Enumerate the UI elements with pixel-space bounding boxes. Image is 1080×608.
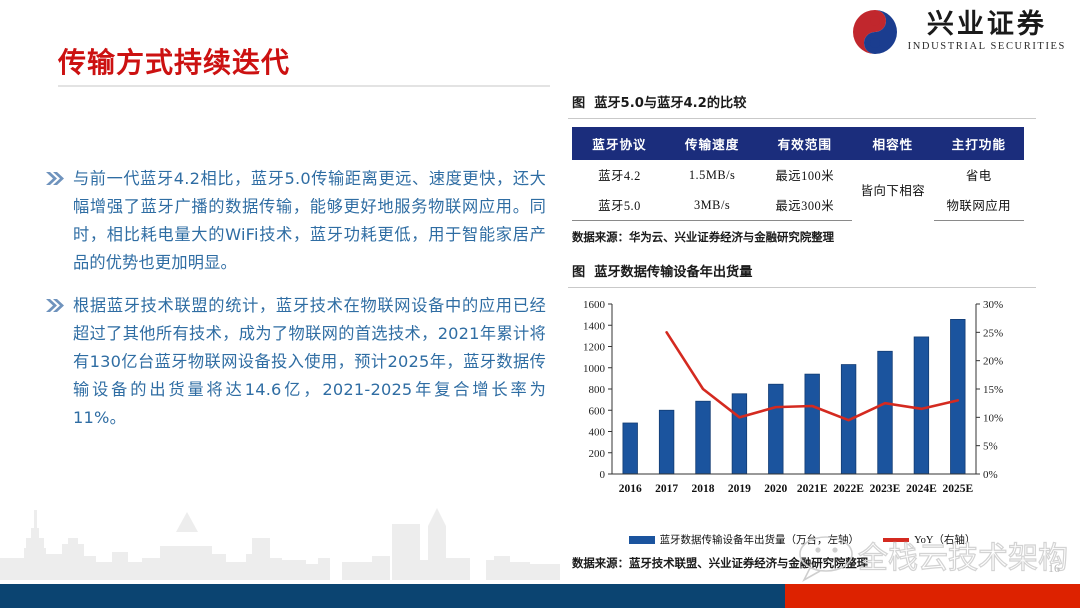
page-title: 传输方式持续迭代 <box>58 48 558 79</box>
svg-text:1400: 1400 <box>583 320 606 332</box>
chart-bar <box>914 337 929 474</box>
legend-label-bar: 蓝牙数据传输设备年出货量（万台，左轴） <box>660 532 860 547</box>
chart-bar <box>623 423 638 474</box>
list-item-text: 根据蓝牙技术联盟的统计，蓝牙技术在物联网设备中的应用已经超过了其他所有技术，成为… <box>73 292 546 431</box>
chart-bar <box>659 410 674 474</box>
chart-x-label: 2019 <box>728 483 751 495</box>
chart-x-label: 2017 <box>655 483 678 495</box>
logo-company-name-cn: 兴业证券 <box>927 11 1047 38</box>
table-header-protocol: 蓝牙协议 <box>572 127 667 160</box>
table-row: 蓝牙5.0 3MB/s 最远300米 物联网应用 <box>572 190 1024 221</box>
svg-text:1600: 1600 <box>583 299 606 311</box>
list-item: 根据蓝牙技术联盟的统计，蓝牙技术在物联网设备中的应用已经超过了其他所有技术，成为… <box>46 292 546 431</box>
svg-text:0: 0 <box>600 469 606 481</box>
double-chevron-right-icon <box>46 299 64 431</box>
chart-y-axis-left-ticks: 02004006008001000120014001600 <box>583 299 612 481</box>
chart-x-label: 2020 <box>764 483 787 495</box>
table-header-feature: 主打功能 <box>934 127 1024 160</box>
svg-text:1000: 1000 <box>583 363 606 375</box>
chart-figure-title: 图蓝牙数据传输设备年出货量 <box>568 261 1036 280</box>
legend-item-bar: 蓝牙数据传输设备年出货量（万台，左轴） <box>629 532 860 547</box>
table-figure-block: 图蓝牙5.0与蓝牙4.2的比较 蓝牙协议 传输速度 有效范围 相容性 主打功能 … <box>568 92 1036 245</box>
svg-text:0%: 0% <box>983 469 998 481</box>
double-chevron-right-icon <box>46 172 64 276</box>
svg-text:20%: 20% <box>983 356 1003 368</box>
table-row: 蓝牙4.2 1.5MB/s 最远100米 皆向下相容 省电 <box>572 160 1024 190</box>
table-header-row: 蓝牙协议 传输速度 有效范围 相容性 主打功能 <box>572 127 1024 160</box>
chart-y-axis-right-ticks: 0%5%10%15%20%25%30% <box>976 299 1003 481</box>
chart-figure-block: 图蓝牙数据传输设备年出货量 02004006008001000120014001… <box>568 261 1036 571</box>
svg-text:200: 200 <box>589 448 606 460</box>
figure-label: 图 <box>572 265 585 280</box>
legend-label-line: YoY（右轴） <box>914 532 975 547</box>
cell-range: 最远100米 <box>757 160 852 190</box>
svg-text:800: 800 <box>589 384 606 396</box>
right-content-column: 图蓝牙5.0与蓝牙4.2的比较 蓝牙协议 传输速度 有效范围 相容性 主打功能 … <box>568 92 1036 571</box>
figure-label: 图 <box>572 96 585 111</box>
figure-title-divider <box>568 118 1036 119</box>
bluetooth-comparison-table: 蓝牙协议 传输速度 有效范围 相容性 主打功能 蓝牙4.2 1.5MB/s 最远… <box>572 127 1024 221</box>
page-title-block: 传输方式持续迭代 <box>58 48 558 87</box>
svg-text:10%: 10% <box>983 412 1003 424</box>
legend-swatch-bar-icon <box>629 536 655 544</box>
logo-swirl-icon <box>851 8 899 56</box>
chart-bar <box>805 374 820 474</box>
cell-compatibility-merged: 皆向下相容 <box>852 160 933 221</box>
chart-bar <box>769 384 784 474</box>
svg-text:30%: 30% <box>983 299 1003 311</box>
chart-x-label: 2018 <box>692 483 715 495</box>
list-item-text: 与前一代蓝牙4.2相比，蓝牙5.0传输距离更远、速度更快，还大幅增强了蓝牙广播的… <box>73 165 546 276</box>
cell-protocol: 蓝牙5.0 <box>572 190 667 221</box>
svg-text:1200: 1200 <box>583 342 606 354</box>
chart-x-label: 2021E <box>797 483 828 495</box>
figure-title-divider <box>568 287 1036 288</box>
cell-feature: 物联网应用 <box>934 190 1024 221</box>
svg-text:15%: 15% <box>983 384 1003 396</box>
chart-x-label: 2022E <box>833 483 864 495</box>
figure-title-text: 蓝牙5.0与蓝牙4.2的比较 <box>594 96 746 111</box>
legend-item-line: YoY（右轴） <box>883 532 975 547</box>
svg-text:25%: 25% <box>983 327 1003 339</box>
logo-company-name-en: INDUSTRIAL SECURITIES <box>908 42 1066 53</box>
legend-swatch-line-icon <box>883 538 909 542</box>
cell-range: 最远300米 <box>757 190 852 221</box>
svg-text:600: 600 <box>589 405 606 417</box>
cell-speed: 3MB/s <box>667 190 757 221</box>
list-item: 与前一代蓝牙4.2相比，蓝牙5.0传输距离更远、速度更快，还大幅增强了蓝牙广播的… <box>46 165 546 276</box>
chart-bar <box>696 401 711 474</box>
table-figure-title: 图蓝牙5.0与蓝牙4.2的比较 <box>568 92 1036 111</box>
title-divider <box>58 85 550 87</box>
chart-legend: 蓝牙数据传输设备年出货量（万台，左轴） YoY（右轴） <box>568 532 1036 547</box>
table-header-range: 有效范围 <box>757 127 852 160</box>
figure-title-text: 蓝牙数据传输设备年出货量 <box>594 265 752 280</box>
chart-x-label: 2024E <box>906 483 937 495</box>
chart-bar <box>732 394 747 474</box>
svg-text:400: 400 <box>589 427 606 439</box>
chart-x-label: 2025E <box>942 483 973 495</box>
chart-source-note: 数据来源：蓝牙技术联盟、兴业证券经济与金融研究院整理 <box>568 555 1036 571</box>
chart-x-label: 2016 <box>619 483 642 495</box>
cell-protocol: 蓝牙4.2 <box>572 160 667 190</box>
footer-bar <box>0 584 1080 608</box>
table-source-note: 数据来源：华为云、兴业证券经济与金融研究院整理 <box>568 229 1036 245</box>
chart-bar <box>878 351 893 474</box>
footer-bar-blue-segment <box>0 584 785 608</box>
page-number: 16 <box>1048 561 1060 576</box>
chart-x-label: 2023E <box>870 483 901 495</box>
cell-feature: 省电 <box>934 160 1024 190</box>
shipment-chart: 02004006008001000120014001600 0%5%10%15%… <box>572 298 1024 530</box>
bullet-list: 与前一代蓝牙4.2相比，蓝牙5.0传输距离更远、速度更快，还大幅增强了蓝牙广播的… <box>46 165 546 448</box>
footer-bar-red-segment <box>785 584 1080 608</box>
table-header-speed: 传输速度 <box>667 127 757 160</box>
skyline-decoration <box>0 500 560 580</box>
chart-bar <box>951 319 966 474</box>
cell-speed: 1.5MB/s <box>667 160 757 190</box>
table-header-compatibility: 相容性 <box>852 127 933 160</box>
svg-text:5%: 5% <box>983 441 998 453</box>
chart-x-axis-ticks: 201620172018201920202021E2022E2023E2024E… <box>619 483 974 495</box>
company-logo: 兴业证券 INDUSTRIAL SECURITIES <box>851 8 1066 56</box>
